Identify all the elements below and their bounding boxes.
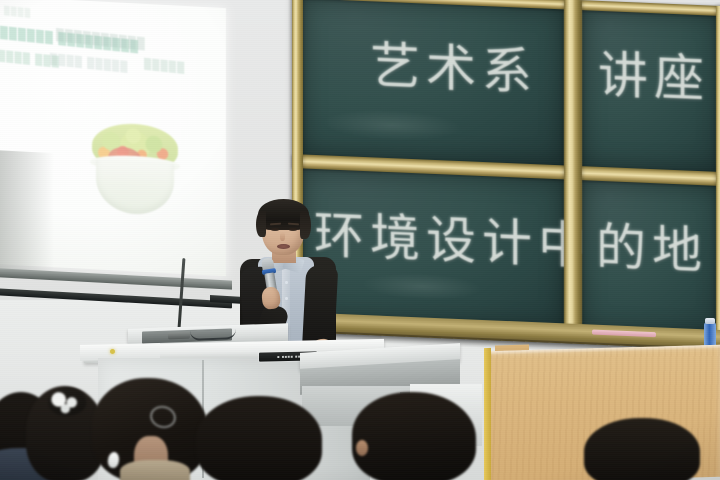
hair-side-left [256, 211, 266, 237]
shirt-button [285, 281, 288, 284]
audience-member-3-collar [120, 460, 190, 480]
slide-text-line-6: ████ [4, 6, 31, 18]
audience-member-4 [196, 396, 322, 480]
eye-right [289, 228, 297, 231]
blackboard-rail-middle-vertical [564, 0, 582, 342]
wood-panel-edge [484, 348, 491, 480]
slide-text-line-4: ████ █████ [50, 54, 129, 73]
chalk-text-bottom-right: 的地 [596, 207, 708, 284]
chalk-dust-smudge [322, 107, 462, 143]
lectern-indicator-led [110, 349, 115, 354]
eye-left [271, 228, 279, 231]
chalk-text-top-left: 艺术系 [370, 25, 538, 104]
nose [280, 232, 285, 241]
blackboard-rail-right [716, 6, 720, 349]
chalk-dust-smudge-2 [362, 271, 482, 302]
slide-image-salad-bowl [82, 115, 188, 217]
water-bottle-cap [705, 318, 715, 324]
hair-side-right [300, 211, 311, 239]
lecture-hall-photo: ████ ██████ █████████ ██████████ ████ ██… [0, 0, 720, 480]
mouth [277, 244, 290, 249]
screen-shadow-left [0, 150, 54, 273]
slide-text-line-5: █████ [144, 59, 185, 74]
chalk-text-bottom-left: 环境设计中 [314, 195, 594, 279]
audience-member-6 [584, 418, 700, 480]
shirt-button [285, 297, 288, 300]
audience-member-5 [352, 392, 476, 480]
blackboard-panel-bottom-right: 的地 [582, 180, 720, 336]
chalk-piece [592, 330, 656, 338]
microphone-base [168, 332, 190, 340]
blackboard-panel-top-right: 讲座 [582, 8, 720, 172]
blackboard: 艺术系 讲座 环境设计中 的地 [292, 0, 720, 348]
audience-member-5-ear [356, 440, 368, 456]
bowl-body [96, 160, 174, 216]
blackboard-panel-top-left: 艺术系 [302, 0, 564, 165]
chalk-text-top-right: 讲座 [598, 35, 710, 112]
